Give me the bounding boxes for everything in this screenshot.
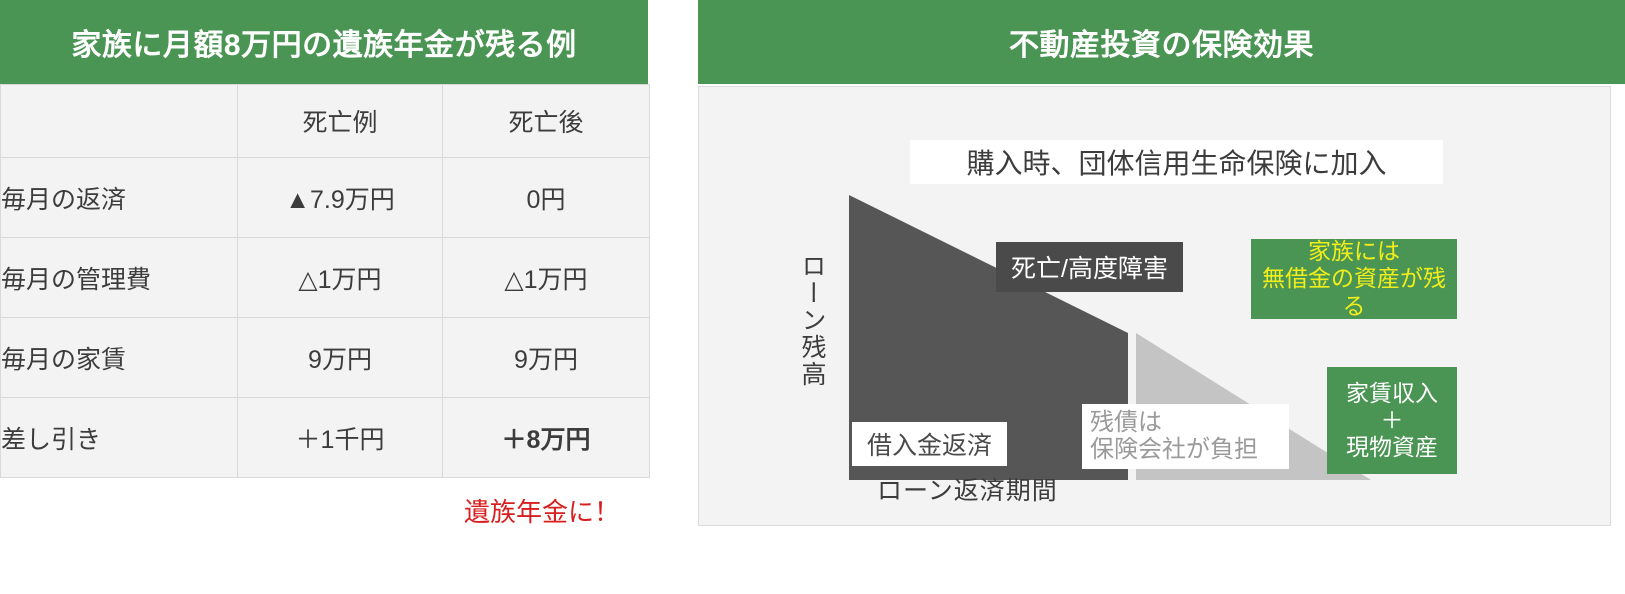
callout-debt-free-asset-line-1: 家族には [1308, 238, 1400, 265]
cell-monthly-repayment-death-case: ▲7.9万円 [238, 158, 443, 238]
right-panel-title: 不動産投資の保険効果 [698, 0, 1625, 84]
table-header-row: 死亡例 死亡後 [1, 85, 650, 158]
tag-remaining-debt-line-1: 残債は [1090, 410, 1162, 437]
tag-remaining-debt-line-2: 保険会社が負担 [1090, 437, 1258, 464]
tag-remaining-debt-covered: 残債は 保険会社が負担 [1082, 404, 1289, 469]
table-row: 毎月の家賃 9万円 9万円 [1, 318, 650, 398]
table-row: 毎月の管理費 △1万円 △1万円 [1, 238, 650, 318]
row-label-net-balance: 差し引き [1, 398, 238, 478]
cell-monthly-repayment-after-death: 0円 [443, 158, 650, 238]
table-header-after-death: 死亡後 [443, 85, 650, 158]
cell-net-balance-death-case: ＋1千円 [238, 398, 443, 478]
callout-debt-free-asset-line-2: 無借金の資産が残る [1251, 265, 1457, 319]
table-header-death-case: 死亡例 [238, 85, 443, 158]
survivor-pension-table: 死亡例 死亡後 毎月の返済 ▲7.9万円 0円 毎月の管理費 △1万円 △1万円… [0, 84, 650, 478]
table-header-blank [1, 85, 238, 158]
axis-label-repayment-period: ローン返済期間 [877, 471, 1058, 507]
left-panel-title: 家族に月額8万円の遺族年金が残る例 [0, 0, 648, 84]
cell-monthly-rent-death-case: 9万円 [238, 318, 443, 398]
tag-loan-repayment: 借入金返済 [852, 422, 1007, 466]
callout-group-credit-life-insurance: 購入時、団体信用生命保険に加入 [910, 140, 1443, 184]
tag-death-or-disability: 死亡/高度障害 [996, 242, 1183, 292]
left-panel: 家族に月額8万円の遺族年金が残る例 死亡例 死亡後 毎月の返済 ▲7.9万円 0… [0, 0, 648, 594]
callout-debt-free-asset: 家族には 無借金の資産が残る [1251, 239, 1457, 319]
callout-rental-income-line-3: 現物資産 [1346, 434, 1438, 461]
callout-rental-income-asset: 家賃収入 ＋ 現物資産 [1327, 367, 1457, 474]
cell-management-fee-death-case: △1万円 [238, 238, 443, 318]
cell-management-fee-after-death: △1万円 [443, 238, 650, 318]
right-panel: 不動産投資の保険効果 ローン残高 ローン返済期間 購入時、団体信用生命保険に加入… [698, 0, 1625, 594]
axis-label-loan-balance: ローン残高 [799, 253, 824, 388]
insurance-effect-diagram: ローン残高 ローン返済期間 購入時、団体信用生命保険に加入 死亡/高度障害 借入… [698, 86, 1611, 526]
cell-net-balance-after-death: ＋8万円 [443, 398, 650, 478]
table-footnote: 遺族年金に！ [0, 478, 648, 529]
callout-rental-income-line-2: ＋ [1381, 407, 1404, 434]
infographic-stage: 家族に月額8万円の遺族年金が残る例 死亡例 死亡後 毎月の返済 ▲7.9万円 0… [0, 0, 1625, 594]
table-row: 毎月の返済 ▲7.9万円 0円 [1, 158, 650, 238]
callout-rental-income-line-1: 家賃収入 [1346, 380, 1438, 407]
table-row: 差し引き ＋1千円 ＋8万円 [1, 398, 650, 478]
row-label-management-fee: 毎月の管理費 [1, 238, 238, 318]
row-label-monthly-rent: 毎月の家賃 [1, 318, 238, 398]
row-label-monthly-repayment: 毎月の返済 [1, 158, 238, 238]
cell-monthly-rent-after-death: 9万円 [443, 318, 650, 398]
